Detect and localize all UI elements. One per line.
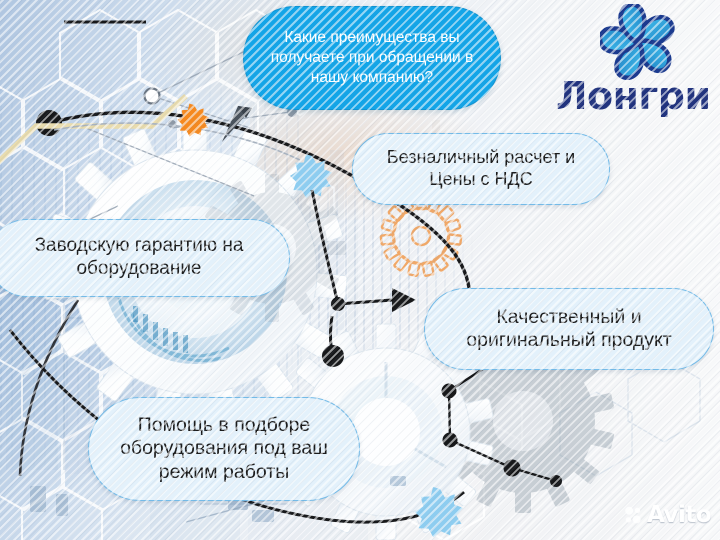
- avito-label: Avito: [647, 502, 711, 528]
- diagonal-stripe-overlay-2: [0, 0, 720, 540]
- avito-dots-icon: [624, 506, 643, 525]
- avito-watermark: Avito: [624, 502, 711, 528]
- poster-canvas: Лонгри Какие преимущества вы получаете п…: [0, 0, 720, 540]
